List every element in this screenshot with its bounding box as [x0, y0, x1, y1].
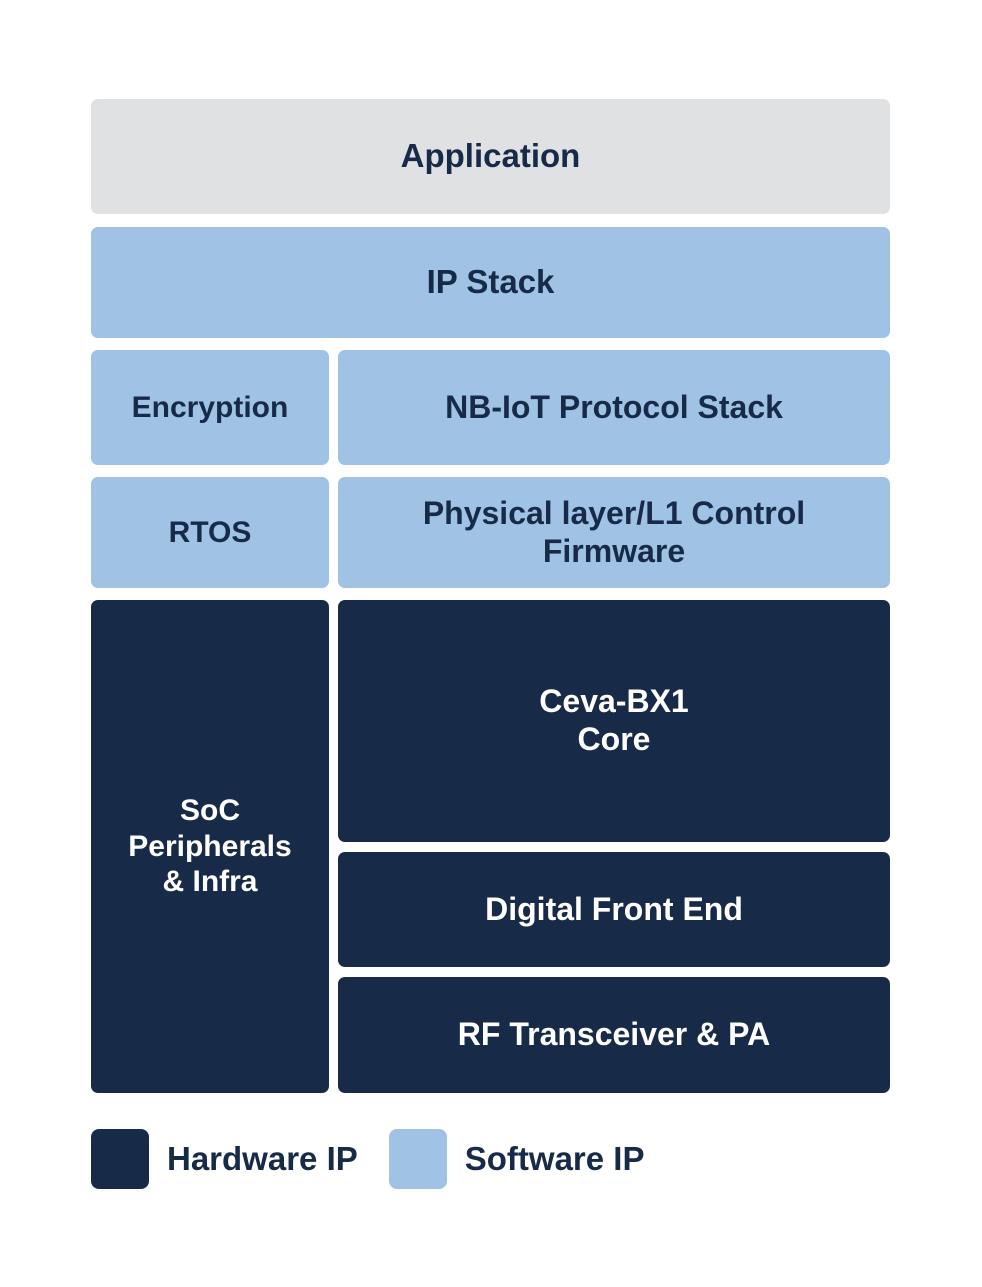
block-rf-transceiver-and-pa: RF Transceiver & PA: [338, 977, 890, 1093]
legend: Hardware IP Software IP: [91, 1128, 644, 1190]
ip-stack-diagram: Application IP Stack Encryption NB-IoT P…: [0, 0, 982, 1287]
legend-item-software-ip: Software IP: [389, 1128, 645, 1190]
legend-item-hardware-ip: Hardware IP: [91, 1128, 358, 1190]
block-application: Application: [91, 99, 890, 214]
block-digital-front-end: Digital Front End: [338, 852, 890, 967]
block-encryption: Encryption: [91, 350, 329, 465]
legend-swatch-hardware-ip: [91, 1129, 149, 1189]
block-nbiot-protocol-stack: NB-IoT Protocol Stack: [338, 350, 890, 465]
legend-label-software-ip: Software IP: [465, 1140, 645, 1178]
block-physical-layer-l1-control-firmware: Physical layer/L1 Control Firmware: [338, 477, 890, 588]
block-soc-peripherals-and-infra: SoC Peripherals & Infra: [91, 600, 329, 1093]
legend-label-hardware-ip: Hardware IP: [167, 1140, 358, 1178]
block-rtos: RTOS: [91, 477, 329, 588]
legend-swatch-software-ip: [389, 1129, 447, 1189]
block-ceva-bx1-core: Ceva-BX1 Core: [338, 600, 890, 842]
block-ip-stack: IP Stack: [91, 227, 890, 338]
